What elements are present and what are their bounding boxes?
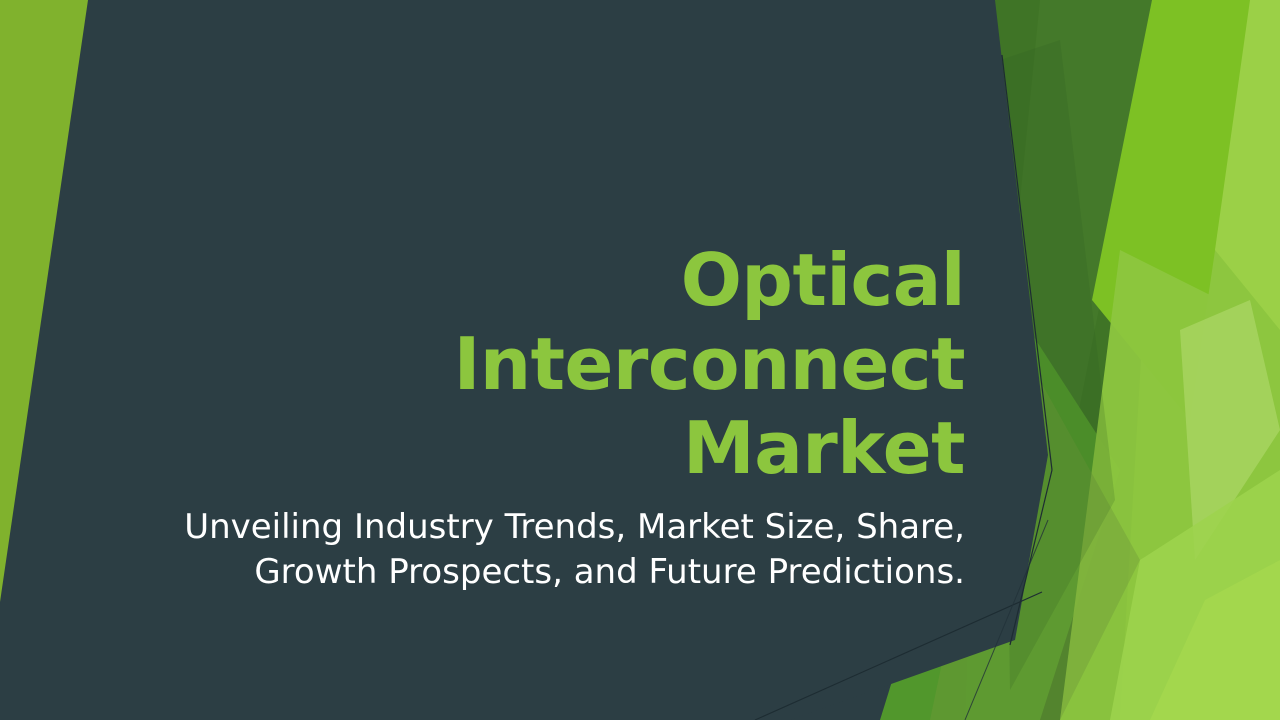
page-subtitle: Unveiling Industry Trends, Market Size, …: [160, 505, 965, 595]
presentation-slide: Optical Interconnect Market Unveiling In…: [0, 0, 1280, 720]
page-title: Optical Interconnect Market: [160, 238, 965, 491]
title-text-block: Optical Interconnect Market Unveiling In…: [160, 238, 965, 595]
